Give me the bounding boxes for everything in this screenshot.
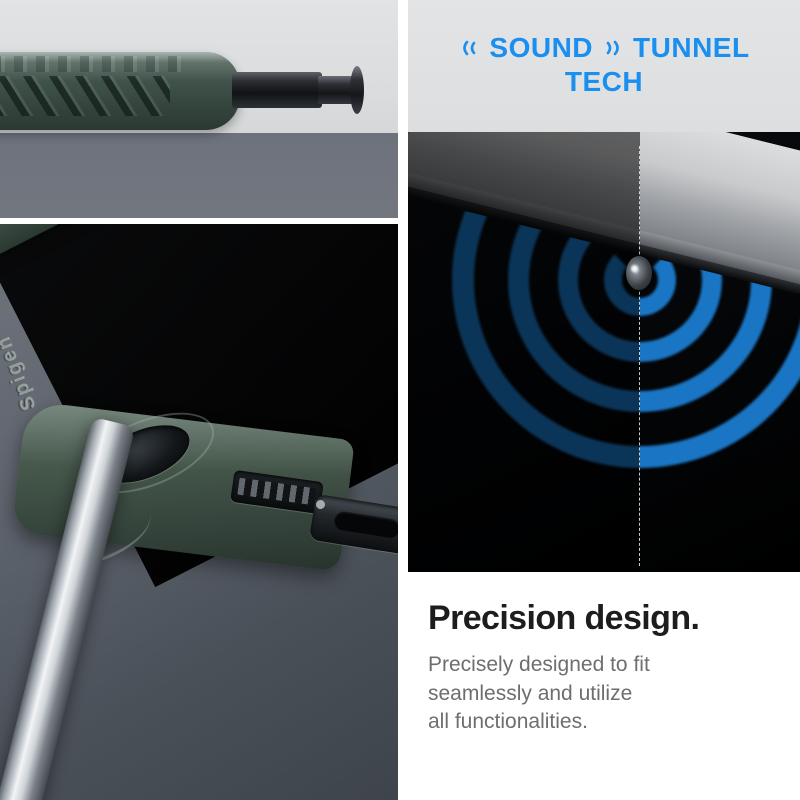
panel-copy-block: Precision design. Precisely designed to … — [408, 572, 800, 800]
phone-case-edge — [0, 52, 240, 130]
header-word-tunnel: TUNNEL — [633, 34, 750, 62]
sound-wave-left-icon — [458, 37, 480, 59]
case-grip-hatch-texture — [0, 76, 170, 116]
product-feature-image: Spigen SOUND — [0, 0, 800, 800]
copy-body-line-3: all functionalities. — [428, 708, 780, 737]
speaker-port-dot — [626, 256, 652, 290]
panel-stylus-closeup — [0, 0, 398, 218]
muted-side-overlay — [408, 132, 640, 572]
copy-headline: Precision design. — [428, 600, 780, 637]
case-dot-texture — [0, 56, 185, 72]
stylus-panel-background-slate — [0, 133, 398, 218]
copy-body: Precisely designed to fit seamlessly and… — [428, 651, 780, 737]
stylus-shaft — [232, 72, 322, 108]
panel-case-detail: Spigen — [0, 224, 398, 800]
header-word-sound: SOUND — [489, 34, 593, 62]
speaker-highlight-glint — [631, 265, 638, 272]
sound-tunnel-header: SOUND TUNNEL TECH — [408, 0, 800, 132]
copy-body-line-1: Precisely designed to fit — [428, 651, 780, 680]
copy-body-line-2: seamlessly and utilize — [428, 680, 780, 709]
sound-wave-right-icon — [602, 37, 624, 59]
stylus-end-cap — [350, 66, 364, 114]
case-edge-highlight — [0, 52, 240, 62]
comparison-divider-line — [639, 146, 640, 566]
header-line-1: SOUND TUNNEL — [458, 34, 749, 62]
panel-sound-tunnel — [408, 132, 800, 572]
header-line-2: TECH — [565, 64, 643, 99]
